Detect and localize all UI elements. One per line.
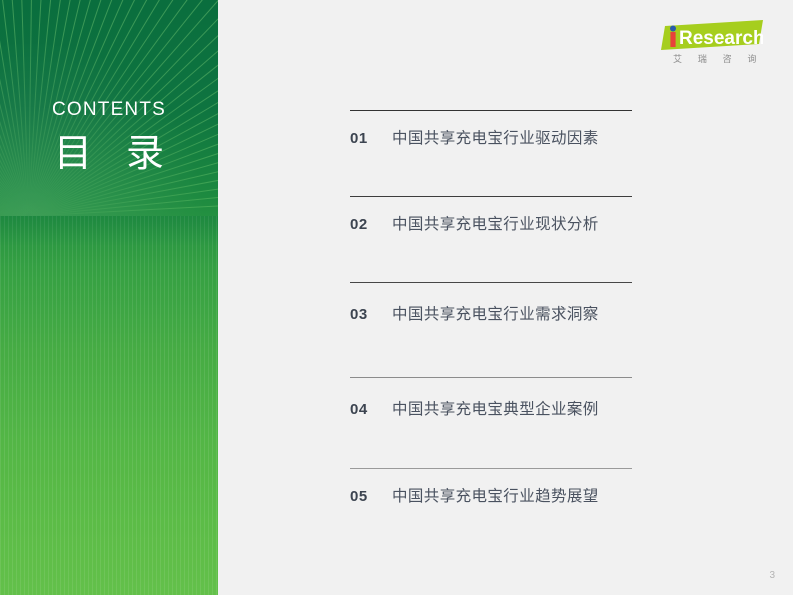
logo-chinese-label: 艾 瑞 咨 询 <box>659 52 771 65</box>
toc-label: 中国共享充电宝行业需求洞察 <box>392 302 599 324</box>
toc-divider <box>350 377 632 378</box>
toc-divider <box>350 282 632 283</box>
toc-item-02[interactable]: 02 中国共享充电宝行业现状分析 <box>350 190 632 276</box>
toc-number: 03 <box>350 306 392 323</box>
panel-title-block: CONTENTS 目 录 <box>0 98 218 178</box>
stripe-fade-overlay <box>0 216 218 246</box>
contents-heading-en: CONTENTS <box>0 98 218 122</box>
toc-number: 04 <box>350 401 392 418</box>
iresearch-logo: Research 艾 瑞 咨 询 <box>659 20 771 68</box>
toc-number: 01 <box>350 130 392 147</box>
toc-number: 02 <box>350 216 392 233</box>
logo-mark: Research <box>659 20 763 50</box>
toc-item-01[interactable]: 01 中国共享充电宝行业驱动因素 <box>350 104 632 190</box>
left-decor-panel: CONTENTS 目 录 <box>0 0 218 595</box>
svg-text:Research: Research <box>679 28 763 49</box>
contents-heading-cn: 目 录 <box>0 128 218 178</box>
toc-row: 01 中国共享充电宝行业驱动因素 <box>350 126 599 148</box>
toc-divider <box>350 196 632 197</box>
table-of-contents: 01 中国共享充电宝行业驱动因素 02 中国共享充电宝行业现状分析 03 中国共… <box>350 104 632 522</box>
toc-label: 中国共享充电宝典型企业案例 <box>392 397 599 419</box>
toc-divider <box>350 110 632 111</box>
page-number: 3 <box>769 570 775 581</box>
toc-item-05[interactable]: 05 中国共享充电宝行业趋势展望 <box>350 462 632 522</box>
toc-row: 03 中国共享充电宝行业需求洞察 <box>350 302 599 324</box>
toc-number: 05 <box>350 488 392 505</box>
toc-label: 中国共享充电宝行业现状分析 <box>392 212 599 234</box>
toc-row: 04 中国共享充电宝典型企业案例 <box>350 397 599 419</box>
toc-row: 05 中国共享充电宝行业趋势展望 <box>350 484 599 506</box>
toc-divider <box>350 468 632 469</box>
toc-label: 中国共享充电宝行业驱动因素 <box>392 126 599 148</box>
slide-root: CONTENTS 目 录 Research 艾 瑞 咨 询 01 中国共享充电宝… <box>0 0 793 595</box>
toc-item-03[interactable]: 03 中国共享充电宝行业需求洞察 <box>350 276 632 371</box>
logo-badge-icon: Research <box>659 20 763 50</box>
toc-label: 中国共享充电宝行业趋势展望 <box>392 484 599 506</box>
toc-row: 02 中国共享充电宝行业现状分析 <box>350 212 599 234</box>
vertical-stripe-pattern <box>0 216 218 595</box>
toc-item-04[interactable]: 04 中国共享充电宝典型企业案例 <box>350 371 632 462</box>
